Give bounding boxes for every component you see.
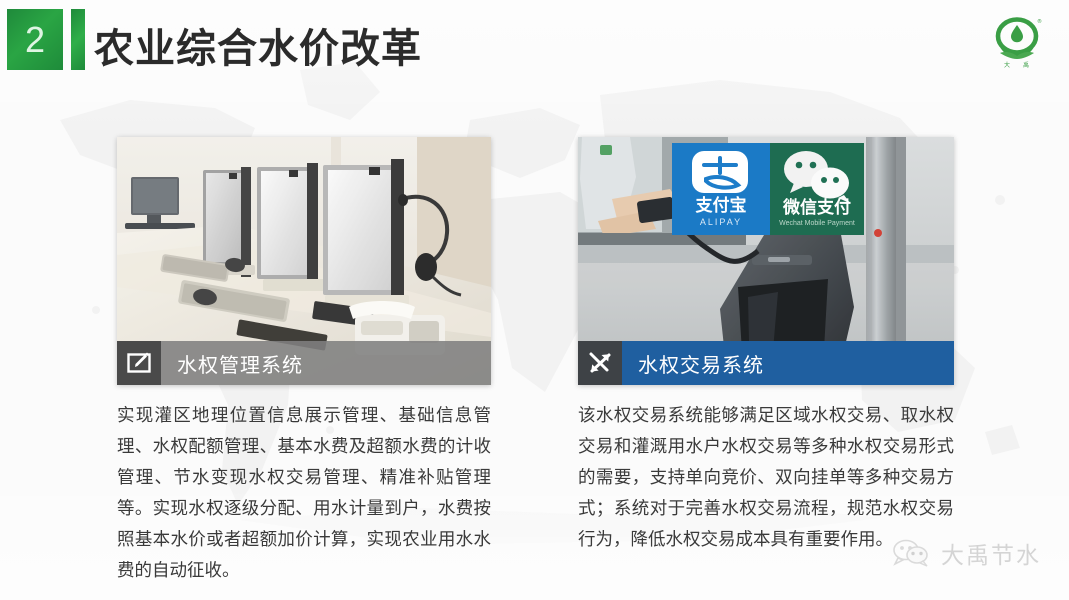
body-text-left: 实现灌区地理位置信息展示管理、基础信息管理、水权配额管理、基本水费及超额水费的计…	[117, 401, 491, 587]
wechat-watermark-text: 大禹节水	[941, 536, 1041, 570]
photo-frame-left: 水权管理系统	[117, 137, 491, 385]
caption-bar-right: 水权交易系统	[578, 341, 954, 385]
card-water-rights-trading: 支付宝 ALIPAY 微信支付 Wechat Mobile Payment	[578, 137, 954, 556]
section-number-badge: 2	[7, 9, 63, 70]
wechat-icon	[892, 538, 932, 568]
slide-header: 2 农业综合水价改革 大 禹 ®	[0, 0, 1069, 82]
caption-bar-left: 水权管理系统	[117, 341, 491, 385]
photo-frame-right: 支付宝 ALIPAY 微信支付 Wechat Mobile Payment	[578, 137, 954, 385]
slide: 2 农业综合水价改革 大 禹 ®	[0, 0, 1069, 600]
page-title: 农业综合水价改革	[94, 16, 422, 74]
svg-text:禹: 禹	[1023, 61, 1029, 69]
wechat-watermark: 大禹节水	[892, 536, 1041, 570]
dayu-logo-icon: 大 禹 ®	[987, 12, 1047, 70]
body-text-right: 该水权交易系统能够满足区域水权交易、取水权交易和灌溉用水户水权交易等多种水权交易…	[578, 401, 954, 556]
svg-text:大: 大	[1004, 61, 1010, 69]
edit-pencil-icon	[117, 341, 161, 385]
svg-text:®: ®	[1037, 18, 1042, 25]
section-number: 2	[25, 22, 45, 58]
card-water-rights-management: 水权管理系统 实现灌区地理位置信息展示管理、基础信息管理、水权配额管理、基本水费…	[117, 137, 491, 587]
exchange-arrows-icon	[578, 341, 622, 385]
caption-label-right: 水权交易系统	[638, 349, 764, 378]
header-accent-bar	[71, 9, 85, 70]
caption-label-left: 水权管理系统	[177, 349, 303, 378]
